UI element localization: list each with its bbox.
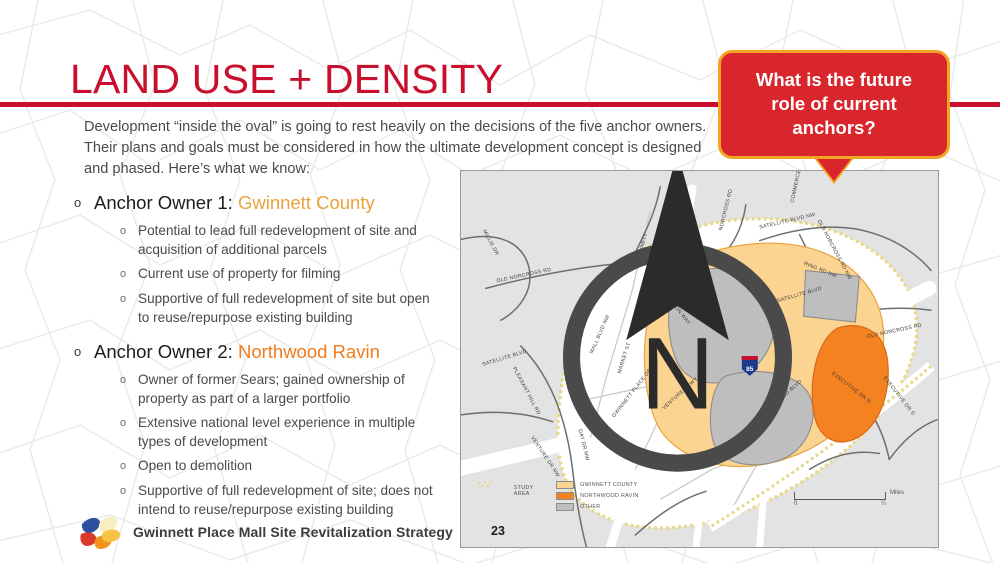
anchor-owner-list: o Anchor Owner 1: Gwinnett County o Pote… <box>74 187 464 519</box>
north-arrow-icon: N <box>460 170 916 511</box>
anchor-owner-1-prefix: Anchor Owner 1: <box>94 192 238 213</box>
list-item-text: Potential to lead full redevelopment of … <box>138 222 438 259</box>
sub-bullet-marker: o <box>120 222 138 241</box>
svg-text:N: N <box>640 315 714 430</box>
list-item: o Extensive national level experience in… <box>120 414 464 451</box>
sub-bullet-marker: o <box>120 371 138 390</box>
anchor-owner-2-accent: Northwood Ravin <box>238 341 380 362</box>
sub-bullet-marker: o <box>120 457 138 476</box>
anchor-owner-1-accent: Gwinnett County <box>238 192 375 213</box>
list-item: o Potential to lead full redevelopment o… <box>120 222 464 259</box>
anchor-owner-1-heading: o Anchor Owner 1: Gwinnett County <box>74 189 464 216</box>
anchor-owner-2-heading: o Anchor Owner 2: Northwood Ravin <box>74 338 464 365</box>
sub-bullet-marker: o <box>120 414 138 433</box>
callout-text: What is the future role of current ancho… <box>718 50 950 159</box>
gwinnett-place-pinwheel-logo-icon <box>78 512 122 552</box>
anchor-owner-2-prefix: Anchor Owner 2: <box>94 341 238 362</box>
list-item-text: Extensive national level experience in m… <box>138 414 438 451</box>
anchor-owner-group-2: o Anchor Owner 2: Northwood Ravin o Owne… <box>74 338 464 519</box>
callout-tail <box>817 159 851 181</box>
study-area-map[interactable]: .rdtxt{font-family:"Liberation Sans",san… <box>460 170 939 548</box>
sub-bullet-marker: o <box>120 265 138 284</box>
anchor-owner-2-heading-text: Anchor Owner 2: Northwood Ravin <box>94 338 380 365</box>
list-item: o Supportive of full redevelopment of si… <box>120 290 464 327</box>
list-item-text: Supportive of full redevelopment of site… <box>138 290 438 327</box>
list-item-text: Open to demolition <box>138 457 252 476</box>
anchor-owner-1-heading-text: Anchor Owner 1: Gwinnett County <box>94 189 375 216</box>
list-item: o Owner of former Sears; gained ownershi… <box>120 371 464 408</box>
footer: Gwinnett Place Mall Site Revitalization … <box>78 512 453 552</box>
slide-canvas: LAND USE + DENSITY Development “inside t… <box>0 0 1000 563</box>
page-number: 23 <box>491 524 505 538</box>
anchor-owner-group-1: o Anchor Owner 1: Gwinnett County o Pote… <box>74 189 464 327</box>
bullet-marker: o <box>74 338 94 365</box>
bullet-marker: o <box>74 189 94 216</box>
page-title: LAND USE + DENSITY <box>70 54 503 104</box>
list-item: o Current use of property for filming <box>120 265 464 284</box>
sub-bullet-marker: o <box>120 290 138 309</box>
list-item-text: Owner of former Sears; gained ownership … <box>138 371 438 408</box>
question-callout: What is the future role of current ancho… <box>718 50 950 159</box>
list-item-text: Current use of property for filming <box>138 265 340 284</box>
footer-title: Gwinnett Place Mall Site Revitalization … <box>133 524 453 540</box>
list-item: o Open to demolition <box>120 457 464 476</box>
sub-bullet-marker: o <box>120 482 138 501</box>
